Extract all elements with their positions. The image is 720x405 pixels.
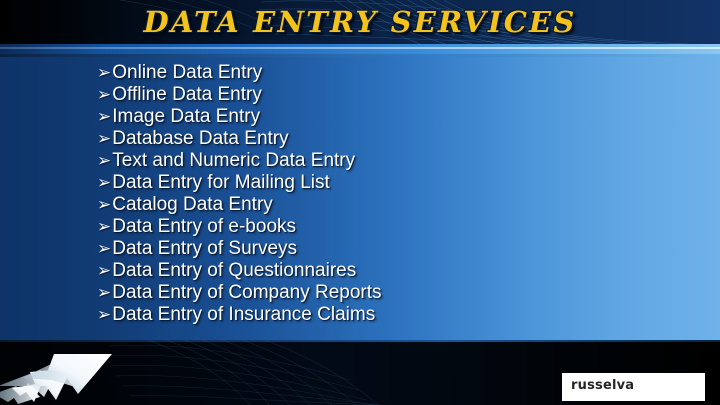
list-item-label: Online Data Entry <box>112 62 262 84</box>
arrowhead-bullet-icon: ➢ <box>97 282 111 304</box>
arrowhead-bullet-icon: ➢ <box>97 128 111 150</box>
list-item-label: Data Entry for Mailing List <box>112 172 330 194</box>
list-item-label: Data Entry of e-books <box>112 216 296 238</box>
arrowhead-bullet-icon: ➢ <box>97 84 111 106</box>
slide-header: DATA ENTRY SERVICES <box>0 0 720 44</box>
three-arrows-up-right-icon <box>0 342 124 405</box>
list-item-label: Text and Numeric Data Entry <box>112 150 355 172</box>
list-item: ➢ Offline Data Entry <box>97 84 697 106</box>
list-item-label: Data Entry of Surveys <box>112 238 297 260</box>
slide-body: ➢ Online Data Entry ➢ Offline Data Entry… <box>0 57 720 340</box>
list-item-label: Catalog Data Entry <box>112 194 273 216</box>
arrowhead-bullet-icon: ➢ <box>97 260 111 282</box>
list-item: ➢ Catalog Data Entry <box>97 194 697 216</box>
list-item-label: Offline Data Entry <box>112 84 262 106</box>
list-item: ➢ Data Entry of e-books <box>97 216 697 238</box>
arrowhead-bullet-icon: ➢ <box>97 172 111 194</box>
arrowhead-bullet-icon: ➢ <box>97 62 111 84</box>
watermark-box: russelva <box>562 373 705 401</box>
list-item: ➢ Data Entry of Insurance Claims <box>97 304 697 326</box>
watermark-label: russelva <box>571 378 634 393</box>
arrowhead-bullet-icon: ➢ <box>97 194 111 216</box>
list-item: ➢ Online Data Entry <box>97 62 697 84</box>
list-item-label: Data Entry of Company Reports <box>112 282 381 304</box>
services-bullet-list: ➢ Online Data Entry ➢ Offline Data Entry… <box>97 62 697 326</box>
presentation-slide: DATA ENTRY SERVICES ➢ Online Data Entry … <box>0 0 720 405</box>
arrowhead-bullet-icon: ➢ <box>97 106 111 128</box>
list-item: ➢ Database Data Entry <box>97 128 697 150</box>
list-item-label: Data Entry of Questionnaires <box>112 260 356 282</box>
list-item: ➢ Data Entry of Surveys <box>97 238 697 260</box>
footer-wireframe-mesh-icon <box>110 340 470 405</box>
list-item-label: Data Entry of Insurance Claims <box>112 304 375 326</box>
list-item-label: Database Data Entry <box>112 128 288 150</box>
arrowhead-bullet-icon: ➢ <box>97 304 111 326</box>
list-item: ➢ Image Data Entry <box>97 106 697 128</box>
list-item: ➢ Text and Numeric Data Entry <box>97 150 697 172</box>
arrowhead-bullet-icon: ➢ <box>97 216 111 238</box>
list-item: ➢ Data Entry for Mailing List <box>97 172 697 194</box>
list-item-label: Image Data Entry <box>112 106 260 128</box>
arrowhead-bullet-icon: ➢ <box>97 150 111 172</box>
list-item: ➢ Data Entry of Questionnaires <box>97 260 697 282</box>
list-item: ➢ Data Entry of Company Reports <box>97 282 697 304</box>
header-accent-band <box>0 44 720 57</box>
page-title: DATA ENTRY SERVICES <box>0 0 720 44</box>
arrowhead-bullet-icon: ➢ <box>97 238 111 260</box>
